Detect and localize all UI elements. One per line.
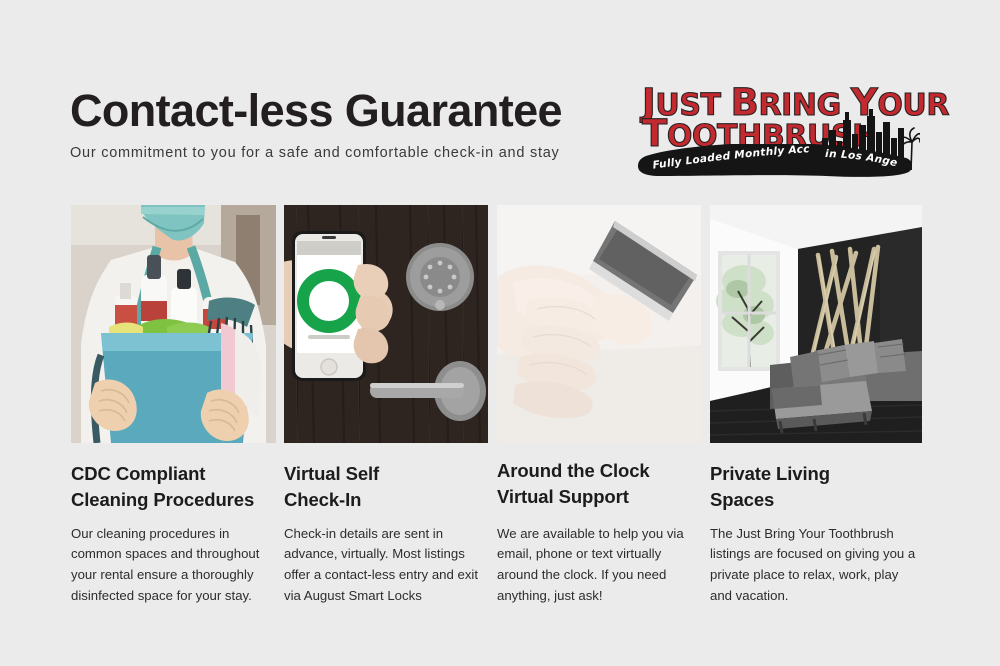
feature-column-private-living-spaces: Private Living Spaces The Just Bring You…	[710, 205, 922, 607]
feature-columns: CDC Compliant Cleaning Procedures Our cl…	[0, 0, 1000, 666]
column-heading-line-1: Around the Clock	[497, 458, 701, 484]
feature-column-cdc-compliant-cleaning-procedures: CDC Compliant Cleaning Procedures Our cl…	[71, 205, 276, 607]
column-heading-line-1: Private Living	[710, 461, 922, 487]
column-heading: Virtual Self Check-In	[284, 461, 488, 514]
living-room-photo	[710, 205, 922, 443]
column-heading-line-1: CDC Compliant	[71, 461, 276, 487]
column-heading-line-2: Check-In	[284, 487, 488, 513]
feature-column-virtual-self-check-in: Virtual Self Check-In Check-in details a…	[284, 205, 488, 607]
column-body-text: The Just Bring Your Toothbrush listings …	[710, 524, 922, 607]
feature-column-around-the-clock-virtual-support: Around the Clock Virtual Support We are …	[497, 205, 701, 607]
column-heading: CDC Compliant Cleaning Procedures	[71, 461, 276, 514]
column-heading-line-2: Virtual Support	[497, 484, 701, 510]
promo-banner-page: Contact-less Guarantee Our commitment to…	[0, 0, 1000, 666]
column-heading: Around the Clock Virtual Support	[497, 458, 701, 511]
phone-in-hands-photo	[497, 205, 701, 443]
column-heading: Private Living Spaces	[710, 461, 922, 514]
column-body-text: Check-in details are sent in advance, vi…	[284, 524, 488, 607]
column-body-text: Our cleaning procedures in common spaces…	[71, 524, 276, 607]
column-body-text: We are available to help you via email, …	[497, 524, 701, 607]
smart-lock-photo	[284, 205, 488, 443]
column-heading-line-2: Spaces	[710, 487, 922, 513]
column-heading-line-1: Virtual Self	[284, 461, 488, 487]
cleaning-photo	[71, 205, 276, 443]
column-heading-line-2: Cleaning Procedures	[71, 487, 276, 513]
